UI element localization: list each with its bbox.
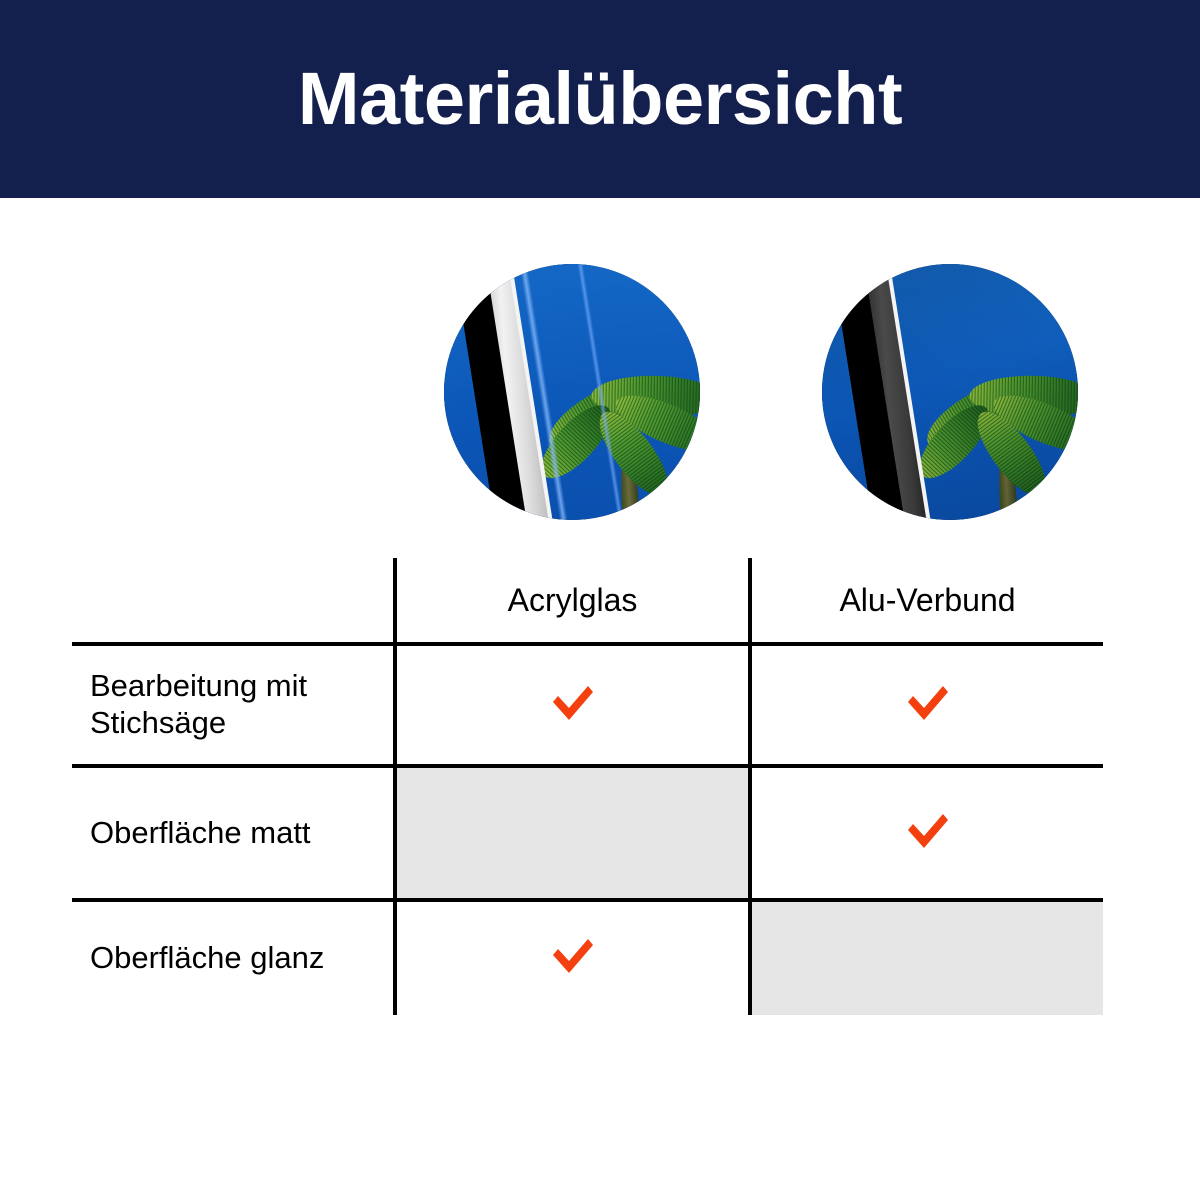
material-sample-images bbox=[0, 264, 1200, 522]
table-row: Oberfläche matt bbox=[72, 766, 1103, 900]
acrylglas-sample-image bbox=[444, 264, 700, 520]
page-header: Materialübersicht bbox=[0, 0, 1200, 198]
check-mark-icon bbox=[905, 811, 951, 851]
row-label-line-1: Bearbeitung mit bbox=[90, 668, 307, 703]
cell-matt-alu-verbund bbox=[750, 766, 1103, 900]
table-header-row: Acrylglas Alu-Verbund bbox=[72, 558, 1103, 644]
check-mark-icon bbox=[550, 683, 596, 723]
row-label-line-1: Oberfläche glanz bbox=[90, 940, 324, 975]
row-label-bearbeitung-mit-stichsaege: Bearbeitung mit Stichsäge bbox=[72, 644, 395, 766]
column-header-acrylglas: Acrylglas bbox=[395, 558, 750, 644]
cell-glanz-alu-verbund-unavailable bbox=[750, 900, 1103, 1015]
row-label-line-2: Stichsäge bbox=[90, 705, 226, 740]
row-label-line-1: Oberfläche matt bbox=[90, 815, 311, 850]
material-comparison-table: Acrylglas Alu-Verbund Bearbeitung mit St… bbox=[72, 558, 1103, 1015]
row-label-oberflaeche-matt: Oberfläche matt bbox=[72, 766, 395, 900]
page-title: Materialübersicht bbox=[298, 62, 902, 136]
row-label-oberflaeche-glanz: Oberfläche glanz bbox=[72, 900, 395, 1015]
cell-glanz-acrylglas bbox=[395, 900, 750, 1015]
cell-bearbeitung-acrylglas bbox=[395, 644, 750, 766]
palm-tree-artwork bbox=[444, 264, 700, 520]
cell-matt-acrylglas-unavailable bbox=[395, 766, 750, 900]
palm-tree-artwork bbox=[822, 264, 1078, 520]
column-header-alu-verbund: Alu-Verbund bbox=[750, 558, 1103, 644]
alu-verbund-sample-image bbox=[822, 264, 1078, 520]
check-mark-icon bbox=[550, 936, 596, 976]
table-corner-cell bbox=[72, 558, 395, 644]
check-mark-icon bbox=[905, 683, 951, 723]
table-row: Bearbeitung mit Stichsäge bbox=[72, 644, 1103, 766]
table-row: Oberfläche glanz bbox=[72, 900, 1103, 1015]
cell-bearbeitung-alu-verbund bbox=[750, 644, 1103, 766]
material-comparison-table-wrapper: Acrylglas Alu-Verbund Bearbeitung mit St… bbox=[72, 558, 1103, 1015]
